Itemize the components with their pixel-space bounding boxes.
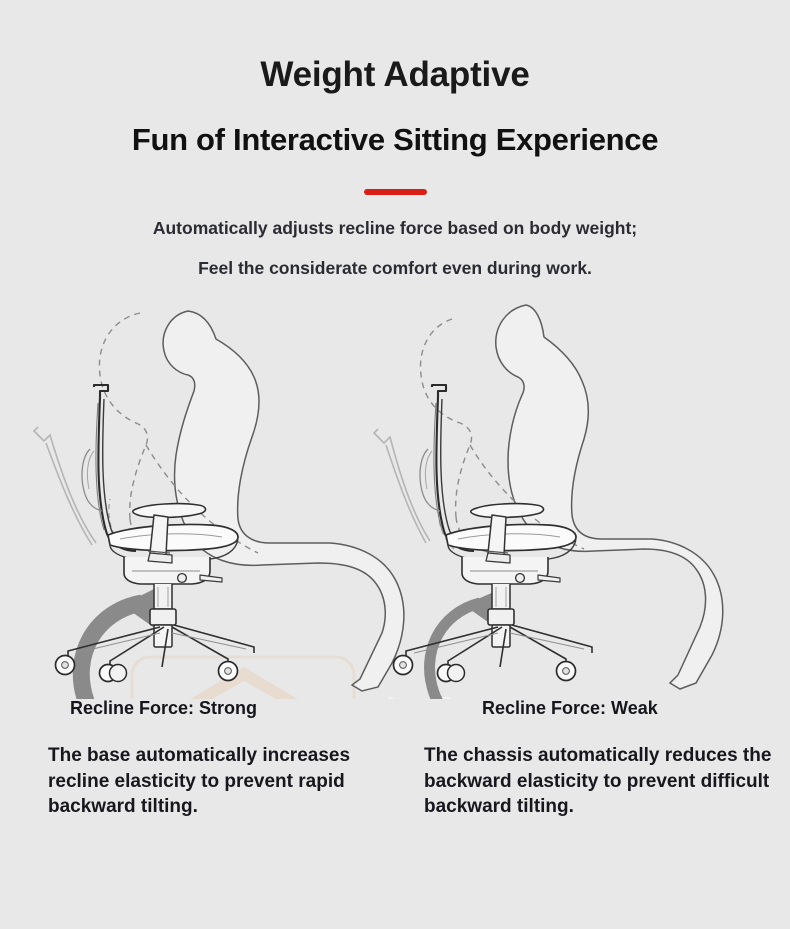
illustration-stage: 合恒工品 HHGPSCM [0,299,790,699]
ghost-chair-back [374,429,430,543]
caption-strong: Recline Force: Strong The base automatic… [48,699,398,819]
header: Weight Adaptive Fun of Interactive Sitti… [0,0,790,277]
panel-illustration-strong [34,311,404,699]
lede-text: Automatically adjusts recline force base… [0,195,790,277]
page-subtitle: Fun of Interactive Sitting Experience [0,94,790,157]
lede-line-1: Automatically adjusts recline force base… [153,218,637,238]
lede-line-2: Feel the considerate comfort even during… [0,238,790,278]
thin-curved-arrow-icon [430,591,528,699]
recline-force-strong-label: Recline Force: Strong [48,699,398,717]
page-title: Weight Adaptive [0,0,790,94]
recline-force-weak-label: Recline Force: Weak [424,699,784,717]
panel-illustration-weak [374,305,723,699]
light-person-silhouette [496,305,723,689]
caption-weak: Recline Force: Weak The chassis automati… [424,699,784,819]
red-divider [364,189,427,195]
chair-comparison-illustration: 合恒工品 HHGPSCM [0,299,790,699]
recline-force-weak-body: The chassis automatically reduces the ba… [424,743,784,819]
recline-force-strong-body: The base automatically increases recline… [48,743,398,819]
captions-row: Recline Force: Strong The base automatic… [0,699,790,849]
house-smiley-logo-watermark [132,657,358,699]
divider-wrap [0,156,790,195]
ghost-chair-back [34,427,96,545]
heavy-person-silhouette [163,311,404,691]
